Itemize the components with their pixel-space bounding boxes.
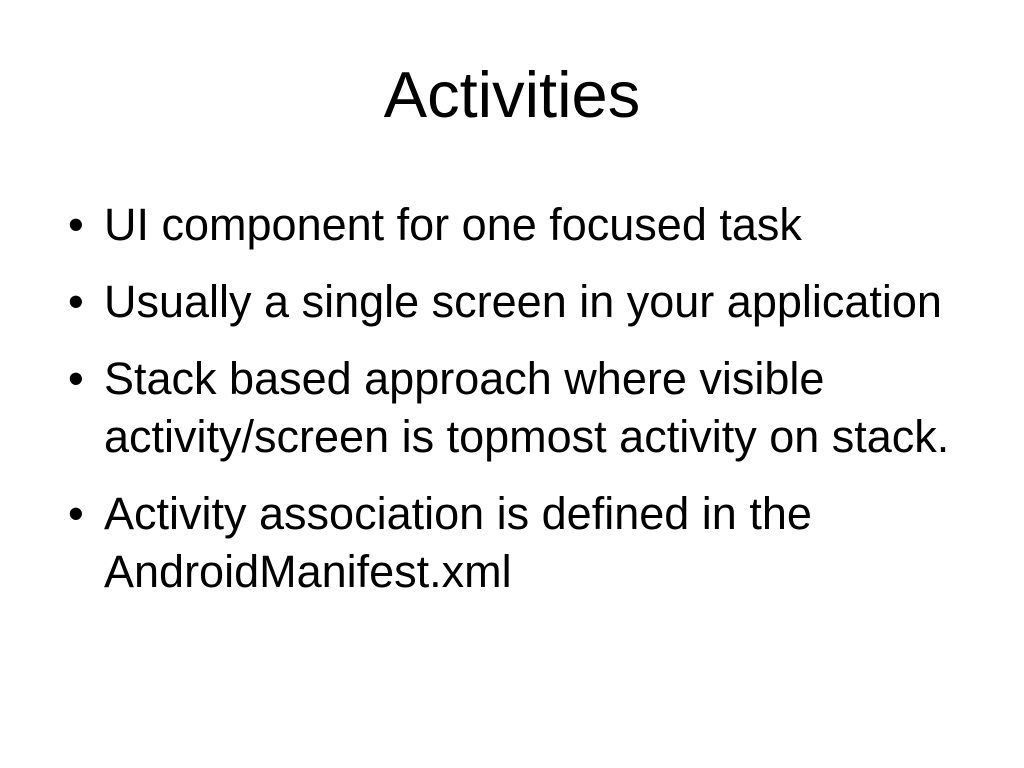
list-item-text: Stack based approach where visible activ…	[104, 350, 974, 466]
list-item: • Usually a single screen in your applic…	[62, 273, 974, 331]
list-item: • UI component for one focused task	[62, 196, 974, 254]
list-item-text: Activity association is defined in the A…	[104, 485, 974, 601]
bullet-point-icon: •	[68, 196, 92, 254]
bullet-point-icon: •	[68, 273, 92, 331]
bullet-point-icon: •	[68, 485, 92, 543]
bullet-list: • UI component for one focused task • Us…	[62, 196, 974, 601]
presentation-slide: Activities • UI component for one focuse…	[0, 0, 1024, 768]
slide-content-body: • UI component for one focused task • Us…	[62, 196, 974, 601]
list-item-text: UI component for one focused task	[104, 196, 974, 254]
bullet-point-icon: •	[68, 350, 92, 408]
list-item: • Stack based approach where visible act…	[62, 350, 974, 466]
list-item-text: Usually a single screen in your applicat…	[104, 273, 974, 331]
list-item: • Activity association is defined in the…	[62, 485, 974, 601]
page-title: Activities	[0, 62, 1024, 127]
